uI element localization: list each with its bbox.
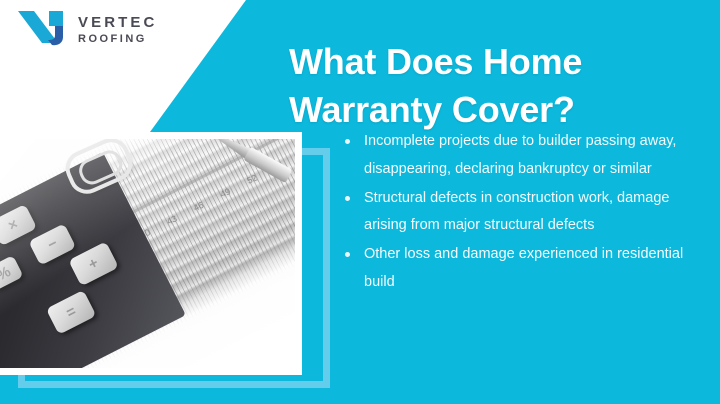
page-title-line-2: Warranty Cover? <box>289 86 689 134</box>
list-item: Other loss and damage experienced in res… <box>340 241 690 297</box>
coverage-bullet-list: Incomplete projects due to builder passi… <box>340 128 690 298</box>
page-title: What Does Home Warranty Cover? <box>289 38 689 133</box>
bullet-dot-icon <box>345 196 350 201</box>
page-title-line-1: What Does Home <box>289 38 689 86</box>
logo-wordmark: VERTEC ROOFING <box>78 15 157 45</box>
list-item-text: Structural defects in construction work,… <box>364 190 669 234</box>
calculator-ruler-pen-photo: 25 28 31 34 37 40 43 46 49 52 × − % + = <box>0 139 295 368</box>
list-item-text: Other loss and damage experienced in res… <box>364 246 683 290</box>
photo-frame: 25 28 31 34 37 40 43 46 49 52 × − % + = <box>0 132 302 375</box>
calculator-key-minus: − <box>29 223 77 266</box>
calculator-key-percent: % <box>0 255 24 291</box>
slide-canvas: 25 28 31 34 37 40 43 46 49 52 × − % + = <box>0 0 720 404</box>
list-item: Incomplete projects due to builder passi… <box>340 128 690 184</box>
logo-line-vertec: VERTEC <box>78 15 157 30</box>
bullet-dot-icon <box>345 252 350 257</box>
logo[interactable]: VERTEC ROOFING <box>17 10 157 50</box>
calculator-key-plus: + <box>68 241 118 286</box>
logo-line-roofing: ROOFING <box>78 34 157 45</box>
vertec-v-mark-icon <box>17 10 69 50</box>
bullet-dot-icon <box>345 139 350 144</box>
list-item: Structural defects in construction work,… <box>340 185 690 241</box>
list-item-text: Incomplete projects due to builder passi… <box>364 133 676 177</box>
calculator-key-equals: = <box>46 289 96 334</box>
